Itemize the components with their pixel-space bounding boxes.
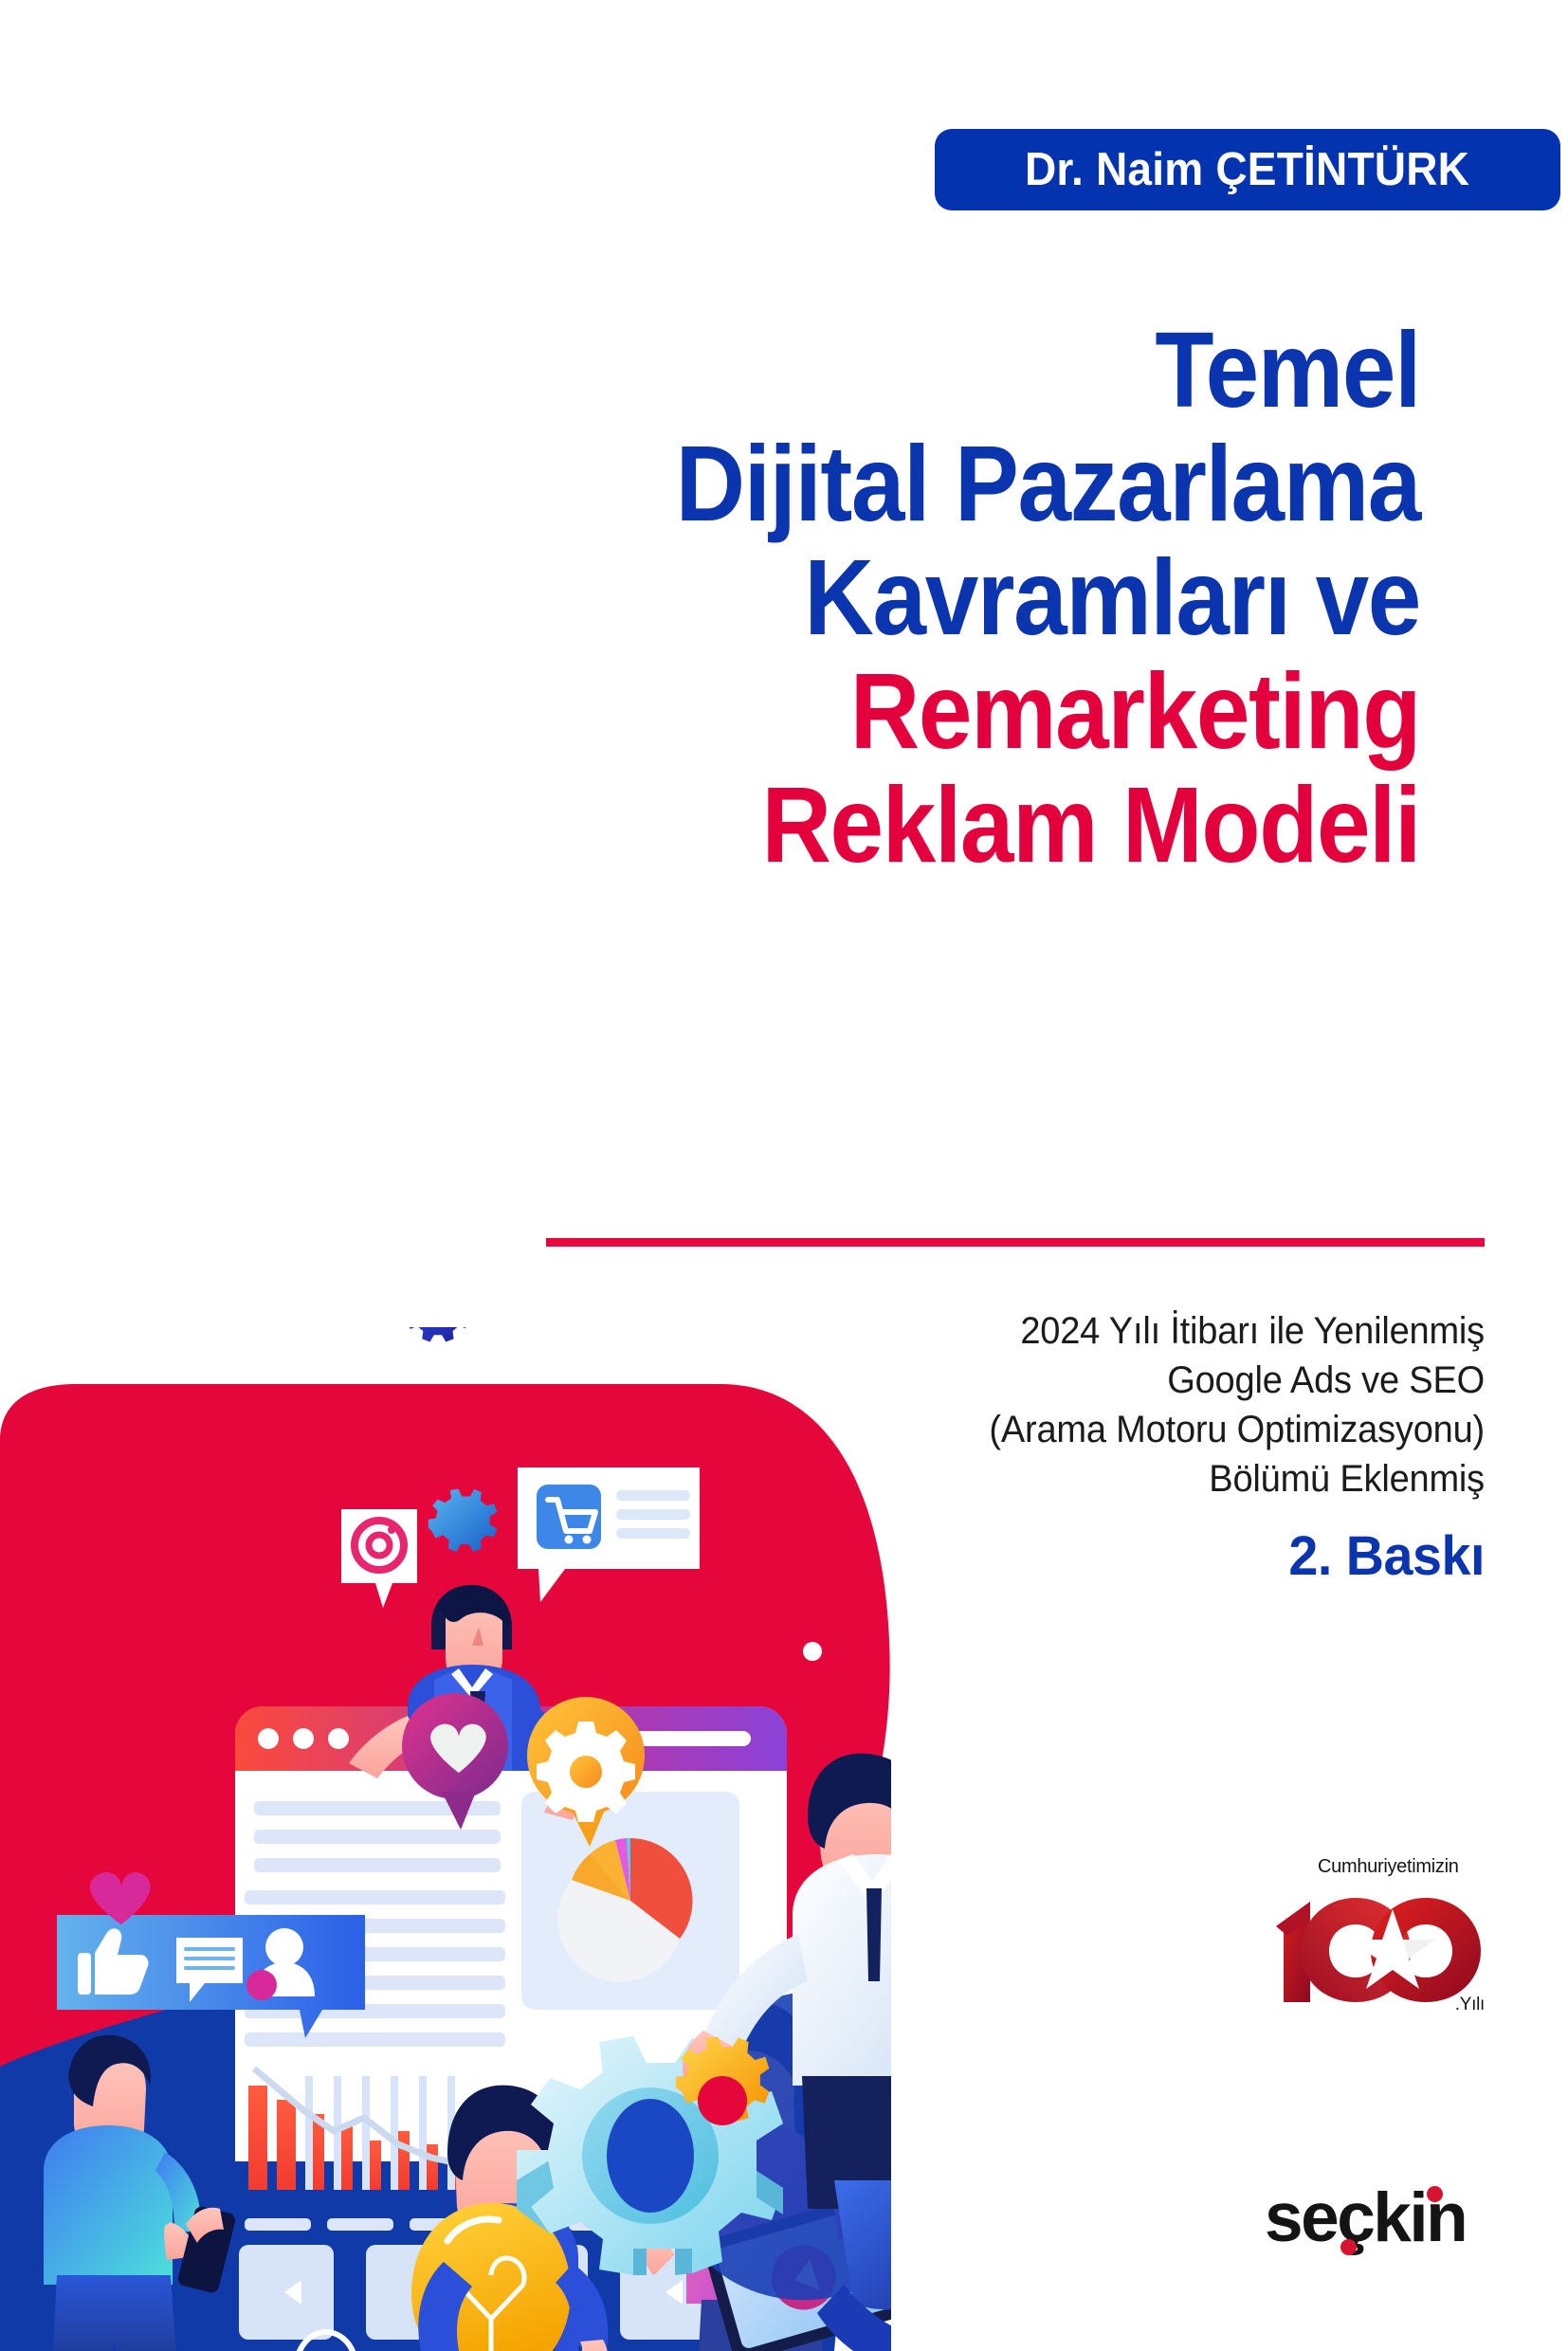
title-line-5: Reklam Modeli <box>405 768 1488 882</box>
publisher-cedilla-dot-icon <box>1340 2239 1357 2255</box>
cover-illustration <box>0 1327 891 2351</box>
digital-marketing-illustration <box>0 1327 891 2351</box>
blue-gear-small-bottom <box>404 1327 469 1342</box>
book-title: Temel Dijital Pazarlama Kavramları ve Re… <box>284 313 1488 882</box>
author-name: Dr. Naim ÇETİNTÜRK <box>1025 143 1469 196</box>
gear-icon <box>537 1722 635 1822</box>
title-line-2: Dijital Pazarlama <box>405 427 1488 540</box>
author-banner: Dr. Naim ÇETİNTÜRK <box>935 129 1560 210</box>
centenary-numeral-icon <box>1268 1877 1492 2010</box>
title-line-3: Kavramları ve <box>405 540 1488 654</box>
title-line-4: Remarketing <box>405 654 1488 768</box>
centenary-logo: Cumhuriyetimizin .Yılı <box>1268 1856 1492 2017</box>
title-line-1: Temel <box>405 313 1488 427</box>
centenary-top-text: Cumhuriyetimizin <box>1318 1856 1459 1878</box>
book-cover: Dr. Naim ÇETİNTÜRK Temel Dijital Pazarla… <box>0 0 1568 2351</box>
publisher-dot-i-icon <box>1427 2186 1443 2202</box>
title-divider <box>546 1238 1485 1247</box>
centenary-bottom-text: .Yılı <box>1455 1995 1485 2015</box>
publisher-logo: seçkin <box>1265 2178 1492 2266</box>
